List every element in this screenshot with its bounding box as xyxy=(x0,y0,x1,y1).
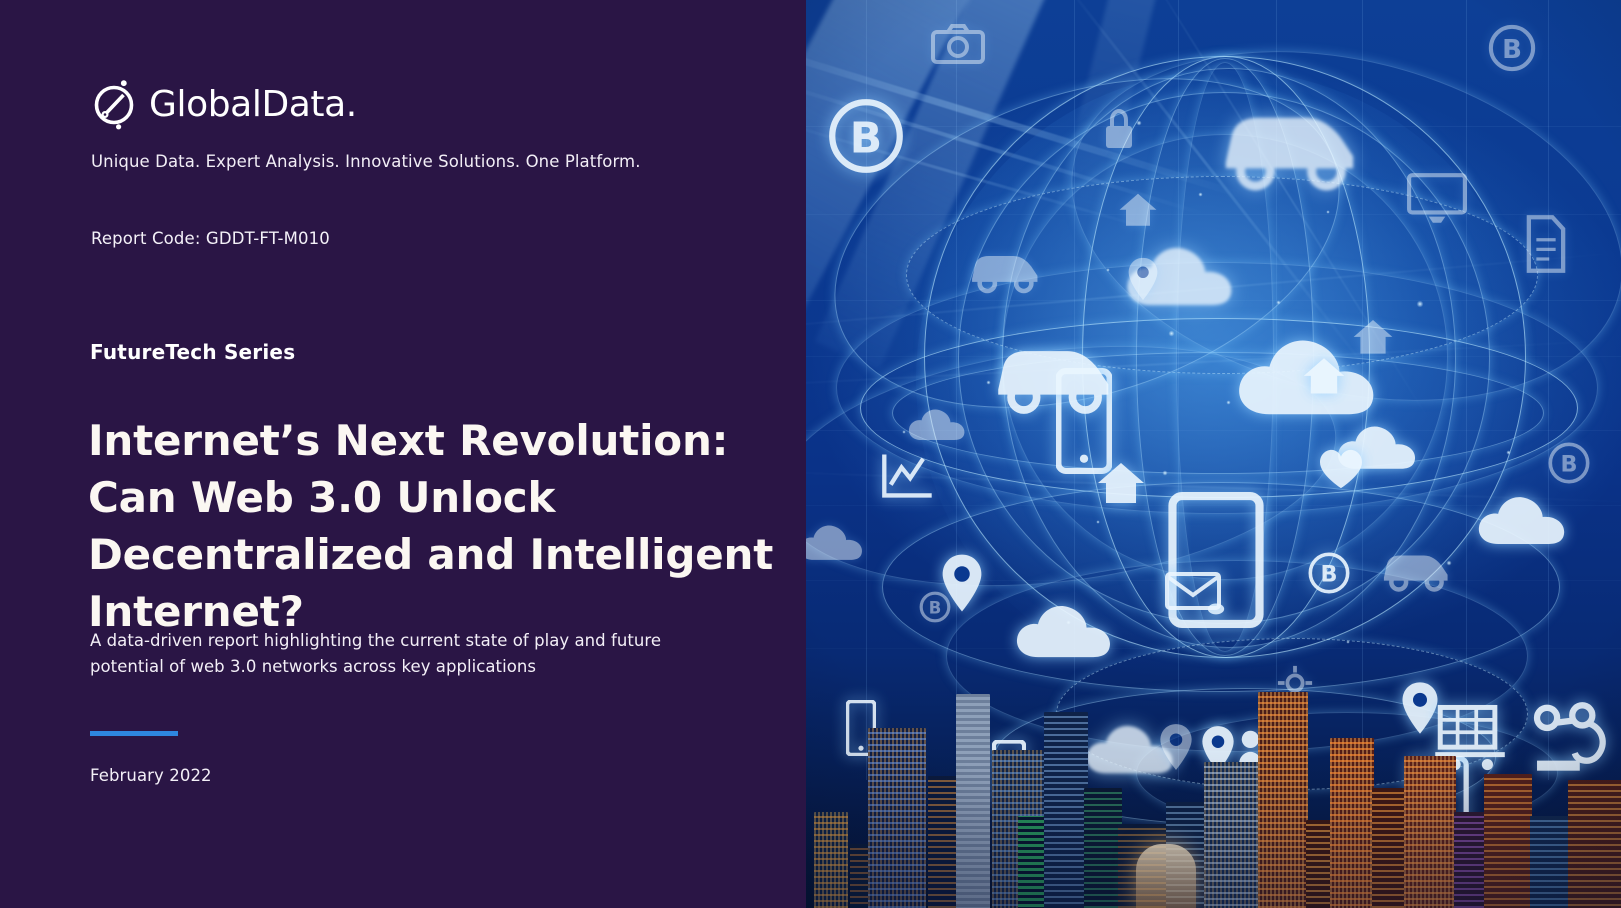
car-icon xyxy=(1214,102,1362,196)
building xyxy=(1258,692,1308,908)
building xyxy=(1330,738,1374,908)
building xyxy=(1568,780,1621,908)
car-icon xyxy=(966,248,1042,296)
cloud-icon xyxy=(906,404,968,446)
particle-dot xyxy=(1198,192,1203,197)
cloud-icon xyxy=(806,520,866,566)
cloud-icon xyxy=(1474,490,1570,552)
svg-text:B: B xyxy=(1321,562,1338,588)
car-icon xyxy=(1378,548,1452,594)
report-subtitle: A data-driven report highlighting the cu… xyxy=(90,628,670,680)
particle-dot xyxy=(1506,450,1511,455)
location-pin-icon xyxy=(1126,256,1160,302)
car-icon xyxy=(988,338,1116,418)
house-icon xyxy=(1118,190,1158,228)
building xyxy=(1084,788,1122,908)
document-icon xyxy=(1522,214,1570,274)
publication-date: February 2022 xyxy=(90,766,212,785)
building xyxy=(1306,820,1332,908)
particle-dot xyxy=(1168,330,1175,337)
city-skyline xyxy=(806,678,1621,908)
particle-dot xyxy=(1162,470,1168,476)
building xyxy=(1044,712,1088,908)
building xyxy=(814,812,848,908)
globaldata-logo: GlobalData. xyxy=(90,78,357,132)
series-label: FutureTech Series xyxy=(90,340,295,364)
cover-artwork: B B B B B xyxy=(806,0,1621,908)
report-code: Report Code: GDDT-FT-M010 xyxy=(91,229,330,248)
page-title: Internet’s Next Revolution: Can Web 3.0 … xyxy=(88,412,788,640)
building xyxy=(1404,756,1456,908)
bitcoin-icon: B xyxy=(1486,22,1538,74)
accent-divider xyxy=(90,731,178,736)
house-icon xyxy=(1302,354,1346,396)
report-cover-page: GlobalData. Unique Data. Expert Analysis… xyxy=(0,0,1621,908)
building xyxy=(868,728,926,908)
particle-dot xyxy=(1276,300,1281,305)
particle-dot xyxy=(1136,120,1142,126)
building xyxy=(1018,816,1044,908)
bitcoin-icon: B xyxy=(1546,440,1592,486)
landmark-building xyxy=(1136,844,1196,908)
building xyxy=(1454,812,1488,908)
svg-text:B: B xyxy=(1561,452,1578,478)
brand-tagline: Unique Data. Expert Analysis. Innovative… xyxy=(91,152,641,171)
globaldata-circle-slash-logo-icon xyxy=(90,78,138,132)
brand-wordmark: GlobalData. xyxy=(149,87,357,123)
particle-dot xyxy=(1226,400,1231,405)
building xyxy=(956,694,990,908)
particle-dot xyxy=(1106,268,1110,272)
house-icon xyxy=(1352,316,1394,356)
cloud-icon xyxy=(1012,598,1116,666)
chart-icon xyxy=(880,450,936,500)
svg-text:B: B xyxy=(850,114,882,163)
monitor-icon xyxy=(1406,172,1468,226)
cover-left-panel: GlobalData. Unique Data. Expert Analysis… xyxy=(0,0,806,908)
svg-text:B: B xyxy=(1502,35,1522,65)
particle-dot xyxy=(1326,210,1330,214)
bitcoin-icon: B xyxy=(826,96,906,176)
building xyxy=(1484,774,1532,908)
camera-icon xyxy=(930,22,986,66)
location-pin-icon xyxy=(940,552,984,614)
building xyxy=(1372,788,1408,908)
particle-dot xyxy=(1096,520,1100,524)
lock-icon xyxy=(1102,108,1136,152)
building xyxy=(1204,762,1262,908)
particle-dot xyxy=(1416,300,1424,308)
envelope-icon xyxy=(1164,570,1222,612)
heart-icon xyxy=(1318,448,1364,490)
building xyxy=(1530,816,1570,908)
particle-dot xyxy=(1346,640,1350,644)
house-icon xyxy=(1096,458,1146,506)
bitcoin-icon: B xyxy=(1306,550,1352,596)
